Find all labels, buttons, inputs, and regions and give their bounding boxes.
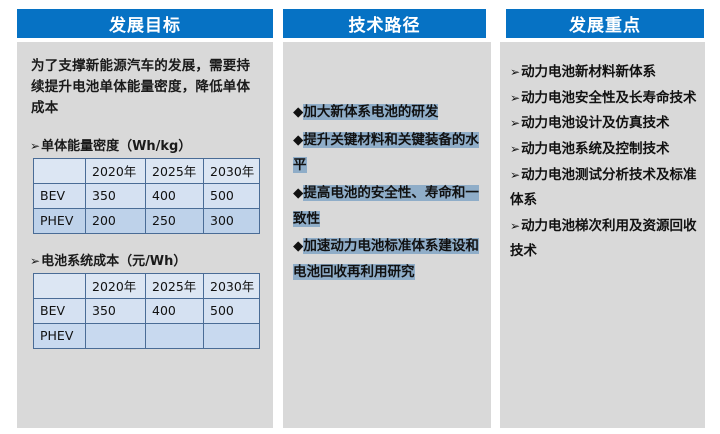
panel-path-body: ◆加大新体系电池的研发 ◆提升关键材料和关键装备的水平 ◆提高电池的安全性、寿命… — [283, 42, 491, 428]
development-focus-list: ➢动力电池新材料新体系 ➢动力电池安全性及长寿命技术 ➢动力电池设计及仿真技术 … — [500, 42, 705, 265]
cell-phev-2030 — [204, 323, 260, 348]
cell-phev-2025: 250 — [146, 208, 204, 233]
table-row: BEV 350 400 500 — [34, 183, 260, 208]
path-item-text: 提升关键材料和关键装备的水平 — [293, 132, 479, 174]
list-item: ➢动力电池梯次利用及资源回收技术 — [510, 214, 697, 265]
list-item: ➢动力电池新材料新体系 — [510, 60, 697, 86]
table-col-header-2030: 2030年 — [204, 158, 260, 183]
energy-density-table: 2020年 2025年 2030年 BEV 350 400 500 PHEV 2… — [33, 158, 260, 234]
focus-item-text: 动力电池系统及控制技术 — [521, 141, 670, 157]
panel-focus-body: ➢动力电池新材料新体系 ➢动力电池安全性及长寿命技术 ➢动力电池设计及仿真技术 … — [500, 42, 705, 428]
focus-item-text: 动力电池安全性及长寿命技术 — [521, 90, 697, 106]
path-item-text: 加速动力电池标准体系建设和电池回收再利用研究 — [293, 238, 479, 280]
table-row: PHEV — [34, 323, 260, 348]
focus-item-text: 动力电池新材料新体系 — [521, 64, 656, 80]
table-col-header-2020: 2020年 — [86, 273, 146, 298]
table-row: BEV 350 400 500 — [34, 298, 260, 323]
technology-path-list: ◆加大新体系电池的研发 ◆提升关键材料和关键装备的水平 ◆提高电池的安全性、寿命… — [283, 42, 491, 285]
table-col-header-2025: 2025年 — [146, 273, 204, 298]
list-item: ➢动力电池测试分析技术及标准体系 — [510, 163, 697, 214]
list-item: ➢动力电池设计及仿真技术 — [510, 111, 697, 137]
table-col-header-blank — [34, 273, 86, 298]
panel-technology-path: 技术路径 ◆加大新体系电池的研发 ◆提升关键材料和关键装备的水平 ◆提高电池的安… — [283, 0, 491, 434]
list-item: ➢动力电池系统及控制技术 — [510, 137, 697, 163]
cell-bev-2020: 350 — [86, 183, 146, 208]
row-label-phev: PHEV — [34, 208, 86, 233]
panel-development-goals: 发展目标 为了支撑新能源汽车的发展，需要持续提升电池单体能量密度，降低单体成本 … — [17, 0, 273, 434]
focus-item-text: 动力电池设计及仿真技术 — [521, 115, 670, 131]
list-item: ◆提高电池的安全性、寿命和一致性 — [293, 181, 481, 232]
arrow-bullet-icon: ➢ — [510, 91, 520, 105]
arrow-bullet-icon: ➢ — [510, 116, 520, 130]
arrow-bullet-icon: ➢ — [510, 65, 520, 79]
row-label-bev: BEV — [34, 183, 86, 208]
list-item: ◆加速动力电池标准体系建设和电池回收再利用研究 — [293, 234, 481, 285]
panel-path-title: 技术路径 — [283, 9, 486, 38]
cell-bev-2025: 400 — [146, 183, 204, 208]
list-item: ➢动力电池安全性及长寿命技术 — [510, 86, 697, 112]
cell-bev-2025: 400 — [146, 298, 204, 323]
panel-goals-title: 发展目标 — [17, 9, 273, 38]
diamond-bullet-icon: ◆ — [293, 185, 303, 201]
panel-focus-title: 发展重点 — [506, 9, 704, 38]
cell-bev-2020: 350 — [86, 298, 146, 323]
arrow-bullet-icon: ➢ — [510, 219, 520, 233]
diamond-bullet-icon: ◆ — [293, 132, 303, 148]
arrow-bullet-icon: ➢ — [510, 168, 520, 182]
system-cost-table-caption: ➢电池系统成本（元/Wh） — [30, 250, 273, 269]
cell-phev-2020: 200 — [86, 208, 146, 233]
panel-development-focus: 发展重点 ➢动力电池新材料新体系 ➢动力电池安全性及长寿命技术 ➢动力电池设计及… — [500, 0, 705, 434]
cell-bev-2030: 500 — [204, 298, 260, 323]
diamond-bullet-icon: ◆ — [293, 104, 303, 120]
table-header-row: 2020年 2025年 2030年 — [34, 158, 260, 183]
panel-goals-body: 为了支撑新能源汽车的发展，需要持续提升电池单体能量密度，降低单体成本 ➢单体能量… — [17, 42, 273, 428]
goals-intro-text: 为了支撑新能源汽车的发展，需要持续提升电池单体能量密度，降低单体成本 — [31, 56, 259, 119]
arrow-bullet-icon: ➢ — [510, 142, 520, 156]
system-cost-table: 2020年 2025年 2030年 BEV 350 400 500 PHEV — [33, 273, 260, 349]
cell-phev-2020 — [86, 323, 146, 348]
table-row: PHEV 200 250 300 — [34, 208, 260, 233]
table-col-header-blank — [34, 158, 86, 183]
cell-phev-2030: 300 — [204, 208, 260, 233]
cell-phev-2025 — [146, 323, 204, 348]
list-item: ◆提升关键材料和关键装备的水平 — [293, 128, 481, 179]
cell-bev-2030: 500 — [204, 183, 260, 208]
list-item: ◆加大新体系电池的研发 — [293, 100, 481, 126]
path-item-text: 加大新体系电池的研发 — [303, 104, 438, 120]
table-col-header-2030: 2030年 — [204, 273, 260, 298]
arrow-bullet-icon: ➢ — [30, 254, 40, 268]
path-item-text: 提高电池的安全性、寿命和一致性 — [293, 185, 479, 227]
slide-root: 发展目标 为了支撑新能源汽车的发展，需要持续提升电池单体能量密度，降低单体成本 … — [0, 0, 720, 434]
focus-item-text: 动力电池测试分析技术及标准体系 — [510, 167, 697, 209]
row-label-phev: PHEV — [34, 323, 86, 348]
arrow-bullet-icon: ➢ — [30, 139, 40, 153]
diamond-bullet-icon: ◆ — [293, 238, 303, 254]
table-header-row: 2020年 2025年 2030年 — [34, 273, 260, 298]
table-col-header-2025: 2025年 — [146, 158, 204, 183]
focus-item-text: 动力电池梯次利用及资源回收技术 — [510, 218, 697, 260]
energy-density-table-caption: ➢单体能量密度（Wh/kg） — [30, 135, 273, 154]
energy-density-caption-text: 单体能量密度（Wh/kg） — [41, 139, 191, 154]
system-cost-caption-text: 电池系统成本（元/Wh） — [41, 254, 186, 269]
row-label-bev: BEV — [34, 298, 86, 323]
table-col-header-2020: 2020年 — [86, 158, 146, 183]
